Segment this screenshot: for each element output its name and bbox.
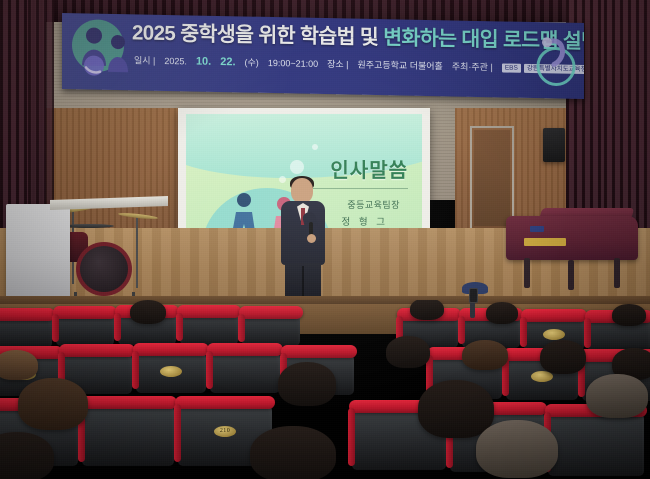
slide-title: 인사말씀: [330, 154, 408, 183]
audience-head: [418, 380, 494, 438]
audience-head: [462, 340, 508, 370]
presenter-hand: [307, 234, 316, 243]
side-door-panel: [474, 130, 510, 226]
seat: [56, 312, 114, 346]
audience-head: [278, 362, 336, 406]
audience-head: [612, 304, 646, 326]
smartphone-icon: [469, 288, 478, 303]
seat-number-plate: [160, 366, 182, 377]
audience-head: [540, 340, 586, 374]
hi-hat-icon: [64, 224, 114, 228]
seat-number-plate: [543, 329, 565, 340]
podium-cabinet: [6, 204, 70, 300]
audience-seating: 210: [0, 300, 650, 479]
audience-head: [250, 426, 336, 479]
seat: [548, 410, 644, 476]
piano-badge: [524, 238, 566, 246]
banner-place-value: 원주고등학교 더불어홀: [358, 60, 443, 72]
bass-drum: [76, 242, 132, 296]
banner-date-day: 22.: [220, 56, 235, 68]
piano-leg: [524, 258, 530, 288]
banner-title-main: 2025 중학생을 위한 학습법 및: [132, 21, 383, 49]
banner-place-label: 장소 |: [327, 59, 348, 69]
banner-weekday: (수): [245, 57, 259, 67]
audience-head: [476, 420, 558, 478]
seat: [242, 312, 300, 346]
banner-emblem-icon: [526, 32, 580, 91]
slide-speaker-role: 중등교육팀장: [347, 198, 400, 211]
banner-host-label: 주최·주관 |: [452, 61, 493, 72]
banner-subtitle: 일시 |2025.10.22.(수)19:00~21:00장소 |원주고등학교 …: [134, 54, 584, 76]
piano-leg: [614, 258, 620, 288]
presenter: [277, 178, 329, 300]
piano-emblem-icon: [530, 226, 544, 232]
banner-date-label: 일시 |: [134, 55, 155, 65]
audience-head: [386, 336, 430, 368]
slide-dot-icon: [290, 160, 304, 174]
presenter-leg-split: [302, 266, 304, 298]
wall-speaker-icon: [543, 128, 565, 162]
audience-head: [130, 300, 166, 324]
event-banner: 2025 중학생을 위한 학습법 및 변화하는 대입 로드맵 설명회 일시 |2…: [62, 13, 584, 99]
cymbal-icon: [118, 212, 158, 220]
cymbal-stand: [136, 216, 138, 288]
audience-head: [586, 374, 648, 418]
auditorium-photo: 2025 중학생을 위한 학습법 및 변화하는 대입 로드맵 설명회 일시 |2…: [0, 0, 650, 479]
seat-number-plate: [531, 371, 553, 382]
banner-title: 2025 중학생을 위한 학습법 및 변화하는 대입 로드맵 설명회: [132, 20, 580, 55]
host-logo-ebs: EBS: [502, 64, 521, 73]
seat: [180, 311, 238, 345]
audience-head: [410, 300, 444, 320]
grand-piano: [506, 208, 638, 290]
seat: [0, 314, 52, 348]
audience-head: [18, 378, 88, 430]
banner-date-prefix: 2025.: [164, 56, 187, 66]
slide-dot-icon: [312, 144, 318, 150]
seat: [210, 349, 280, 393]
seat: [82, 402, 174, 466]
seat: [136, 349, 206, 393]
slide-speaker-name: 정 형 그: [342, 214, 389, 228]
audience-head: [0, 350, 38, 380]
seat-number-plate: 210: [214, 426, 236, 437]
drum-kit: [56, 196, 166, 302]
banner-date-month: 10.: [196, 56, 211, 68]
banner-time: 19:00~21:00: [268, 58, 318, 69]
presenter-head: [291, 178, 313, 203]
audience-head: [486, 302, 518, 324]
piano-leg: [568, 260, 574, 290]
students-illustration-icon: [64, 15, 128, 88]
